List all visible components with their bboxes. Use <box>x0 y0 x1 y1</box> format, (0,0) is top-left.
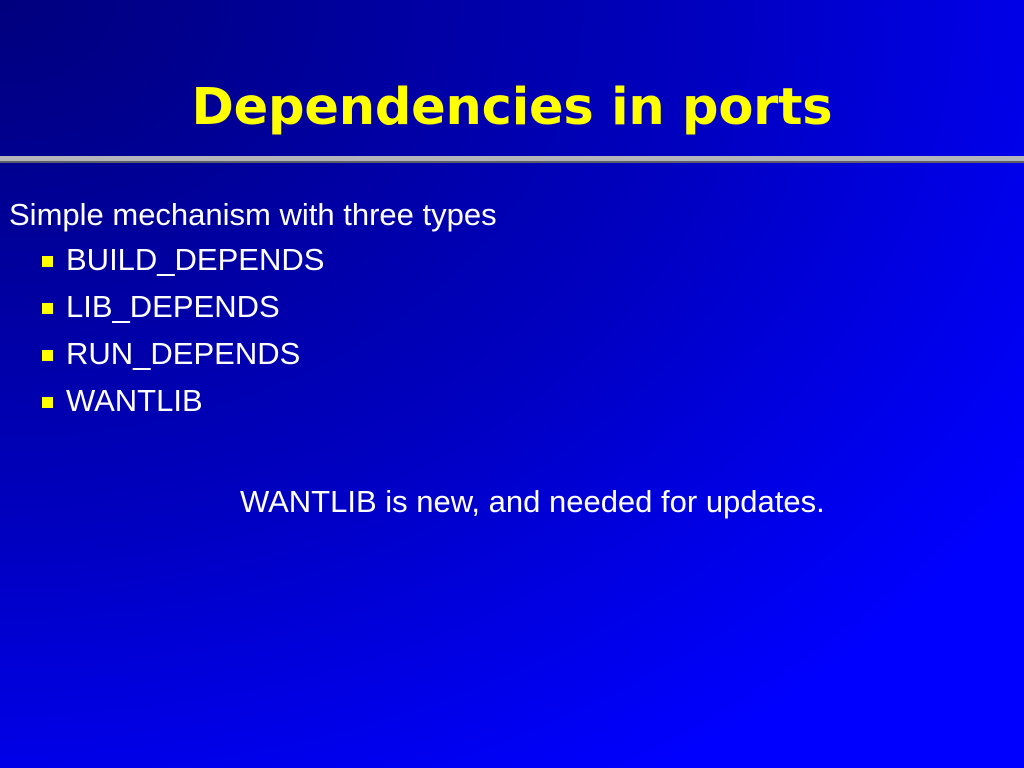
footnote-text: WANTLIB is new, and needed for updates. <box>0 483 1024 521</box>
list-item: RUN_DEPENDS <box>0 334 1024 381</box>
list-item-label: BUILD_DEPENDS <box>66 240 324 280</box>
list-item-label: LIB_DEPENDS <box>66 287 280 327</box>
divider-shadow-band <box>0 161 1024 163</box>
square-bullet-icon <box>42 397 53 408</box>
square-bullet-icon <box>42 256 53 267</box>
slide-body: Simple mechanism with three types BUILD_… <box>0 196 1024 428</box>
slide-footnote-block: WANTLIB is new, and needed for updates. <box>0 483 1024 521</box>
list-item: LIB_DEPENDS <box>0 287 1024 334</box>
dependency-type-list: BUILD_DEPENDS LIB_DEPENDS RUN_DEPENDS WA… <box>0 240 1024 428</box>
slide-title-block: Dependencies in ports <box>0 78 1024 138</box>
presentation-slide: Dependencies in ports Simple mechanism w… <box>0 0 1024 768</box>
square-bullet-icon <box>42 350 53 361</box>
body-lead-line: Simple mechanism with three types <box>0 196 1024 234</box>
list-item-label: WANTLIB <box>66 381 203 421</box>
list-item: BUILD_DEPENDS <box>0 240 1024 287</box>
page-title: Dependencies in ports <box>0 78 1024 138</box>
list-item-label: RUN_DEPENDS <box>66 334 300 374</box>
title-divider <box>0 155 1024 163</box>
list-item: WANTLIB <box>0 381 1024 428</box>
square-bullet-icon <box>42 303 53 314</box>
